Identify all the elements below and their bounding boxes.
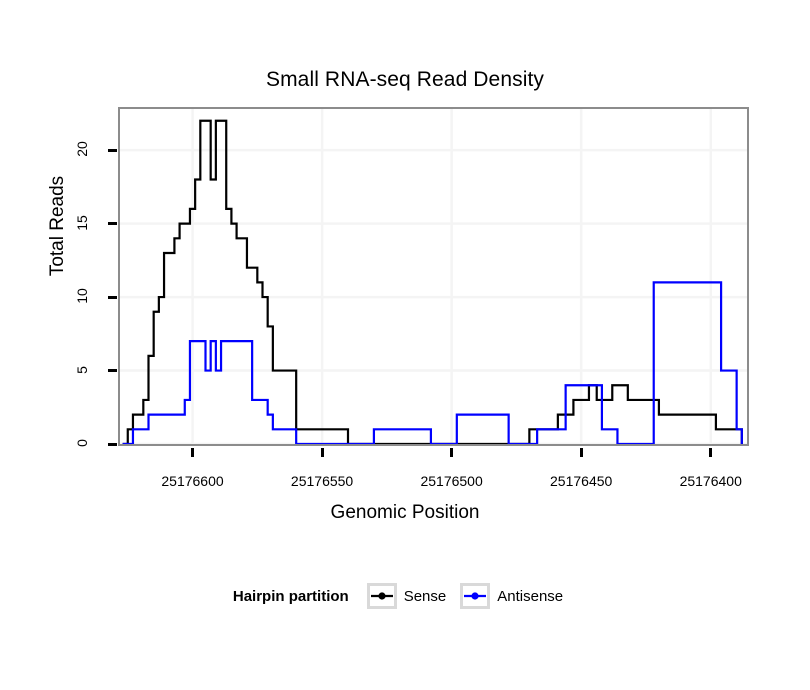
x-tick-label: 25176550 [267, 473, 377, 489]
y-tick-label: 15 [74, 203, 90, 243]
legend-label: Sense [404, 588, 447, 605]
x-axis-label: Genomic Position [0, 502, 810, 524]
y-tick-mark [108, 149, 117, 152]
legend-key-swatch [367, 583, 397, 609]
legend-key-swatch [460, 583, 490, 609]
plot-panel [118, 107, 749, 446]
x-tick-label: 25176450 [526, 473, 636, 489]
legend-items: SenseAntisense [367, 583, 577, 609]
x-tick-label: 25176600 [138, 473, 248, 489]
y-tick-label: 5 [74, 350, 90, 390]
y-tick-label: 20 [74, 129, 90, 169]
legend-item-antisense[interactable]: Antisense [460, 583, 563, 609]
chart-title: Small RNA-seq Read Density [0, 68, 810, 92]
legend-title: Hairpin partition [233, 588, 349, 605]
x-tick-mark [580, 448, 583, 457]
x-tick-label: 25176500 [397, 473, 507, 489]
x-tick-label: 25176400 [656, 473, 766, 489]
y-tick-mark [108, 369, 117, 372]
series-layer [123, 121, 742, 444]
plot-area [120, 109, 747, 444]
chart-container: Small RNA-seq Read Density Total Reads 0… [0, 0, 810, 690]
y-tick-label: 0 [74, 423, 90, 463]
y-tick-mark [108, 443, 117, 446]
y-tick-mark [108, 296, 117, 299]
legend-point-icon [464, 589, 486, 603]
y-tick-mark [108, 222, 117, 225]
x-tick-mark [450, 448, 453, 457]
x-tick-mark [709, 448, 712, 457]
legend-item-sense[interactable]: Sense [367, 583, 447, 609]
legend-label: Antisense [497, 588, 563, 605]
chart-legend: Hairpin partition SenseAntisense [0, 583, 810, 609]
x-tick-mark [321, 448, 324, 457]
y-axis-label: Total Reads [47, 126, 69, 326]
y-tick-label: 10 [74, 276, 90, 316]
legend-point-icon [371, 589, 393, 603]
x-tick-mark [191, 448, 194, 457]
series-line-antisense [123, 282, 742, 444]
series-line-sense [123, 121, 742, 444]
